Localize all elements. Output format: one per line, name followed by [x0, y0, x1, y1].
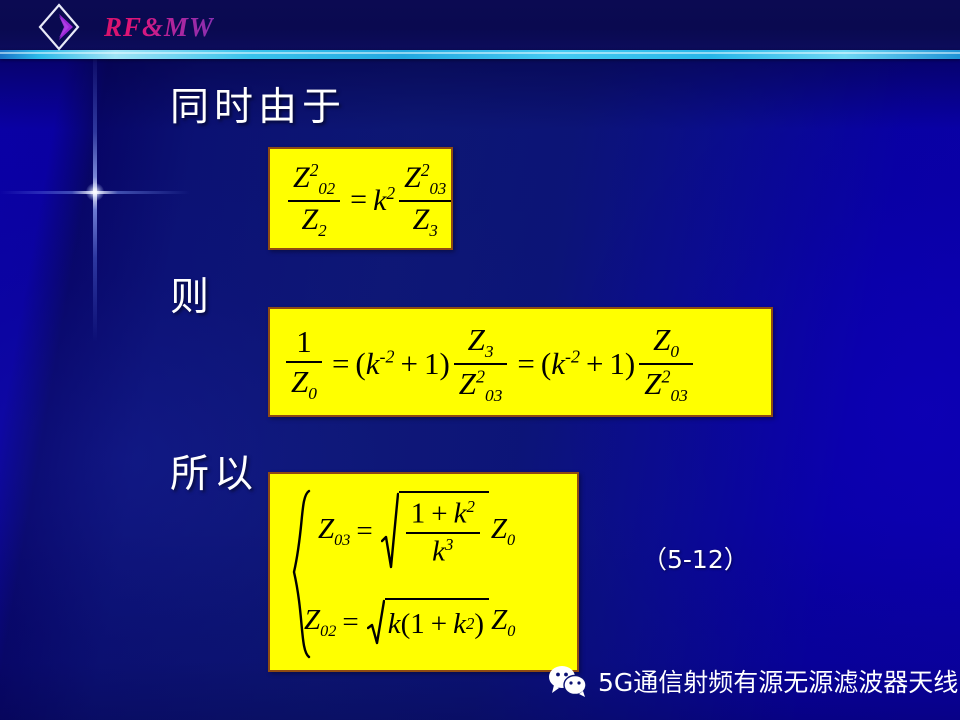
formula-2-fraction-2-numerator: Z0: [648, 321, 684, 363]
formula-3-line-1-inner-denominator: k3: [427, 534, 458, 570]
formula-2-fraction-1-numerator: Z3: [463, 321, 499, 363]
formula-2-group-2: (k-2+1): [541, 346, 635, 382]
watermark: 5G通信射频有源无源滤波器天线: [548, 663, 958, 699]
formula-3-line-2-radicand: k(1+k2): [385, 598, 489, 646]
formula-1-coefficient: k2: [373, 183, 395, 218]
formula-3-line-2-lhs: Z02: [304, 604, 336, 641]
formula-2-lhs-denominator: Z0: [286, 363, 322, 405]
equation-number: （5-12）: [642, 540, 749, 576]
formula-3-line-1-radicand: 1+k2 k3: [399, 491, 489, 571]
radical-sign-icon: [381, 491, 399, 571]
lead-in-label-1: 同时由于: [170, 88, 346, 127]
formula-3-line-1: Z03 = 1+k2 k3 Z0: [318, 488, 515, 574]
formula-1-lhs-fraction: Z202 Z2: [288, 159, 340, 242]
formula-1-rhs-denominator: Z3: [408, 202, 443, 242]
formula-3-line-2-tail: Z0: [491, 604, 515, 641]
formula-box-2: 1 Z0 = (k-2+1) Z3 Z203 = (k-2+1) Z0 Z203: [268, 307, 773, 417]
wechat-icon: [548, 664, 588, 698]
radical-sign-icon: [367, 598, 385, 646]
formula-1-equals: =: [350, 183, 367, 217]
watermark-text: 5G通信射频有源无源滤波器天线: [598, 663, 958, 699]
slide-canvas: RF&MW 同时由于 则 所以 Z202 Z2 = k2 Z203 Z3 1: [0, 0, 960, 720]
formula-3-line-2-radical: k(1+k2): [367, 598, 489, 646]
formula-2-lhs-numerator: 1: [291, 323, 317, 361]
formula-3-line-1-lhs: Z03: [318, 513, 350, 550]
formula-3-line-1-inner-numerator: 1+k2: [406, 496, 480, 532]
formula-box-1: Z202 Z2 = k2 Z203 Z3: [268, 147, 453, 250]
formula-3-line-1-inner-fraction: 1+k2 k3: [406, 496, 480, 569]
formula-3-line-1-equals: =: [356, 515, 372, 548]
formula-2-fraction-1-denominator: Z203: [454, 365, 508, 407]
formula-1-rhs-numerator: Z203: [399, 159, 451, 200]
formula-2-equals-1: =: [332, 346, 349, 382]
header-divider-line: [0, 50, 960, 59]
formula-1-expression: Z202 Z2 = k2 Z203 Z3: [284, 157, 455, 243]
formula-3-line-2-equals: =: [342, 606, 358, 639]
formula-2-fraction-2-denominator: Z203: [639, 365, 693, 407]
formula-3-line-2: Z02 = k(1+k2) Z0: [304, 592, 515, 652]
formula-2-group-1: (k-2+1): [355, 346, 449, 382]
lead-in-label-3: 所以: [170, 455, 258, 494]
formula-2-lhs-fraction: 1 Z0: [286, 323, 322, 405]
sparkle-core: [86, 183, 104, 201]
formula-2-fraction-2: Z0 Z203: [639, 321, 693, 407]
formula-box-3: Z03 = 1+k2 k3 Z0 Z02: [268, 472, 579, 672]
formula-1-lhs-denominator: Z2: [297, 202, 332, 242]
formula-1-lhs-numerator: Z202: [288, 159, 340, 200]
lead-in-label-2: 则: [170, 278, 214, 317]
formula-2-expression: 1 Z0 = (k-2+1) Z3 Z203 = (k-2+1) Z0 Z203: [282, 317, 697, 411]
formula-2-equals-2: =: [517, 346, 534, 382]
formula-3-line-1-tail: Z0: [491, 513, 515, 550]
formula-3-line-1-radical: 1+k2 k3: [381, 491, 489, 571]
formula-1-rhs-fraction: Z203 Z3: [399, 159, 451, 242]
brand-title: RF&MW: [104, 12, 214, 43]
formula-2-fraction-1: Z3 Z203: [454, 321, 508, 407]
diamond-arrow-logo-icon: [35, 2, 83, 52]
